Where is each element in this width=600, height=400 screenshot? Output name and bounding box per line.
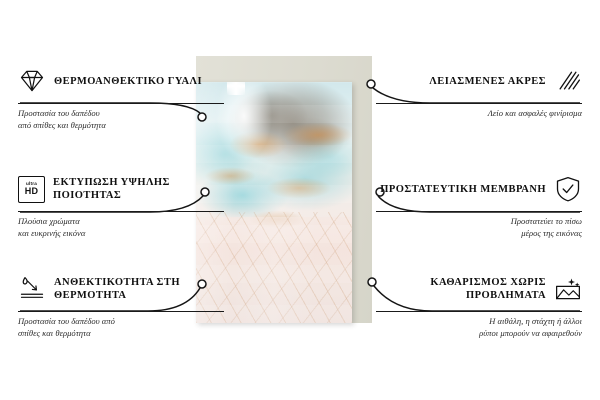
feature-right-1-description: Λείο και ασφαλές φινίρισμα [376,108,582,120]
feature-left-1: ΘΕΡΜΟΑΝΘΕΚΤΙΚΟ ΓΥΑΛΙ Προστασία του δαπέδ… [18,62,224,131]
feature-right-1-title: ΛΕΙΑΣΜΕΝΕΣ ΑΚΡΕΣ [429,75,546,88]
infographic-stage: ΘΕΡΜΟΑΝΘΕΚΤΙΚΟ ΓΥΑΛΙ Προστασία του δαπέδ… [0,0,600,400]
feature-left-3-title: ΑΝΘΕΚΤΙΚΟΤΗΤΑ ΣΤΗ ΘΕΡΜΟΤΗΤΑ [54,276,224,302]
feature-left-1-description: Προστασία του δαπέδου από σπίθες και θερ… [18,108,224,131]
heat-resistance-icon [18,275,46,303]
diamond-icon [18,67,46,95]
feature-left-1-title: ΘΕΡΜΟΑΝΘΕΚΤΙΚΟ ΓΥΑΛΙ [54,75,202,88]
feature-left-2-description: Πλούσια χρώματα και ευκρινής εικόνα [18,216,224,239]
feature-right-2-header: ΠΡΟΣΤΑΤΕΥΤΙΚΗ ΜΕΜΒΡΑΝΗ [376,170,582,208]
feature-right-2-description: Προστατεύει το πίσω μέρος της εικόνας [376,216,582,239]
feature-right-1: ΛΕΙΑΣΜΕΝΕΣ ΑΚΡΕΣ Λείο και ασφαλές φινίρι… [376,62,582,120]
feature-right-2-title: ΠΡΟΣΤΑΤΕΥΤΙΚΗ ΜΕΜΒΡΑΝΗ [380,183,546,196]
shield-check-icon [554,175,582,203]
feature-right-2: ΠΡΟΣΤΑΤΕΥΤΙΚΗ ΜΕΜΒΡΑΝΗ Προστατεύει το πί… [376,170,582,239]
connector-dot-right-1 [367,80,375,88]
ultra-hd-icon-hd-label: HD [25,187,39,196]
feature-left-1-rule [18,103,224,104]
polished-edges-icon [554,67,582,95]
feature-left-3-header: ΑΝΘΕΚΤΙΚΟΤΗΤΑ ΣΤΗ ΘΕΡΜΟΤΗΤΑ [18,270,224,308]
feature-right-3: ΚΑΘΑΡΙΣΜΟΣ ΧΩΡΙΣ ΠΡΟΒΛΗΜΑΤΑ Η αιθάλη, η … [376,270,582,339]
feature-right-3-title: ΚΑΘΑΡΙΣΜΟΣ ΧΩΡΙΣ ΠΡΟΒΛΗΜΑΤΑ [376,276,546,302]
feature-right-2-rule [376,211,582,212]
feature-left-2-header: ultra HD ΕΚΤΥΠΩΣΗ ΥΨΗΛΗΣ ΠΟΙΟΤΗΤΑΣ [18,170,224,208]
feature-left-2-rule [18,211,224,212]
feature-right-1-rule [376,103,582,104]
feature-left-2: ultra HD ΕΚΤΥΠΩΣΗ ΥΨΗΛΗΣ ΠΟΙΟΤΗΤΑΣ Πλούσ… [18,170,224,239]
ultra-hd-icon: ultra HD [18,176,45,203]
feature-right-1-header: ΛΕΙΑΣΜΕΝΕΣ ΑΚΡΕΣ [376,62,582,100]
feature-left-3-description: Προστασία του δαπέδου από σπίθες και θερ… [18,316,224,339]
feature-right-3-rule [376,311,582,312]
feature-left-3: ΑΝΘΕΚΤΙΚΟΤΗΤΑ ΣΤΗ ΘΕΡΜΟΤΗΤΑ Προστασία το… [18,270,224,339]
easy-clean-icon [554,275,582,303]
feature-left-2-title: ΕΚΤΥΠΩΣΗ ΥΨΗΛΗΣ ΠΟΙΟΤΗΤΑΣ [53,176,224,202]
feature-right-3-header: ΚΑΘΑΡΙΣΜΟΣ ΧΩΡΙΣ ΠΡΟΒΛΗΜΑΤΑ [376,270,582,308]
feature-left-3-rule [18,311,224,312]
feature-left-1-header: ΘΕΡΜΟΑΝΘΕΚΤΙΚΟ ΓΥΑΛΙ [18,62,224,100]
feature-right-3-description: Η αιθάλη, η στάχτη ή άλλοι ρύποι μπορούν… [376,316,582,339]
connector-dot-right-3 [368,278,376,286]
